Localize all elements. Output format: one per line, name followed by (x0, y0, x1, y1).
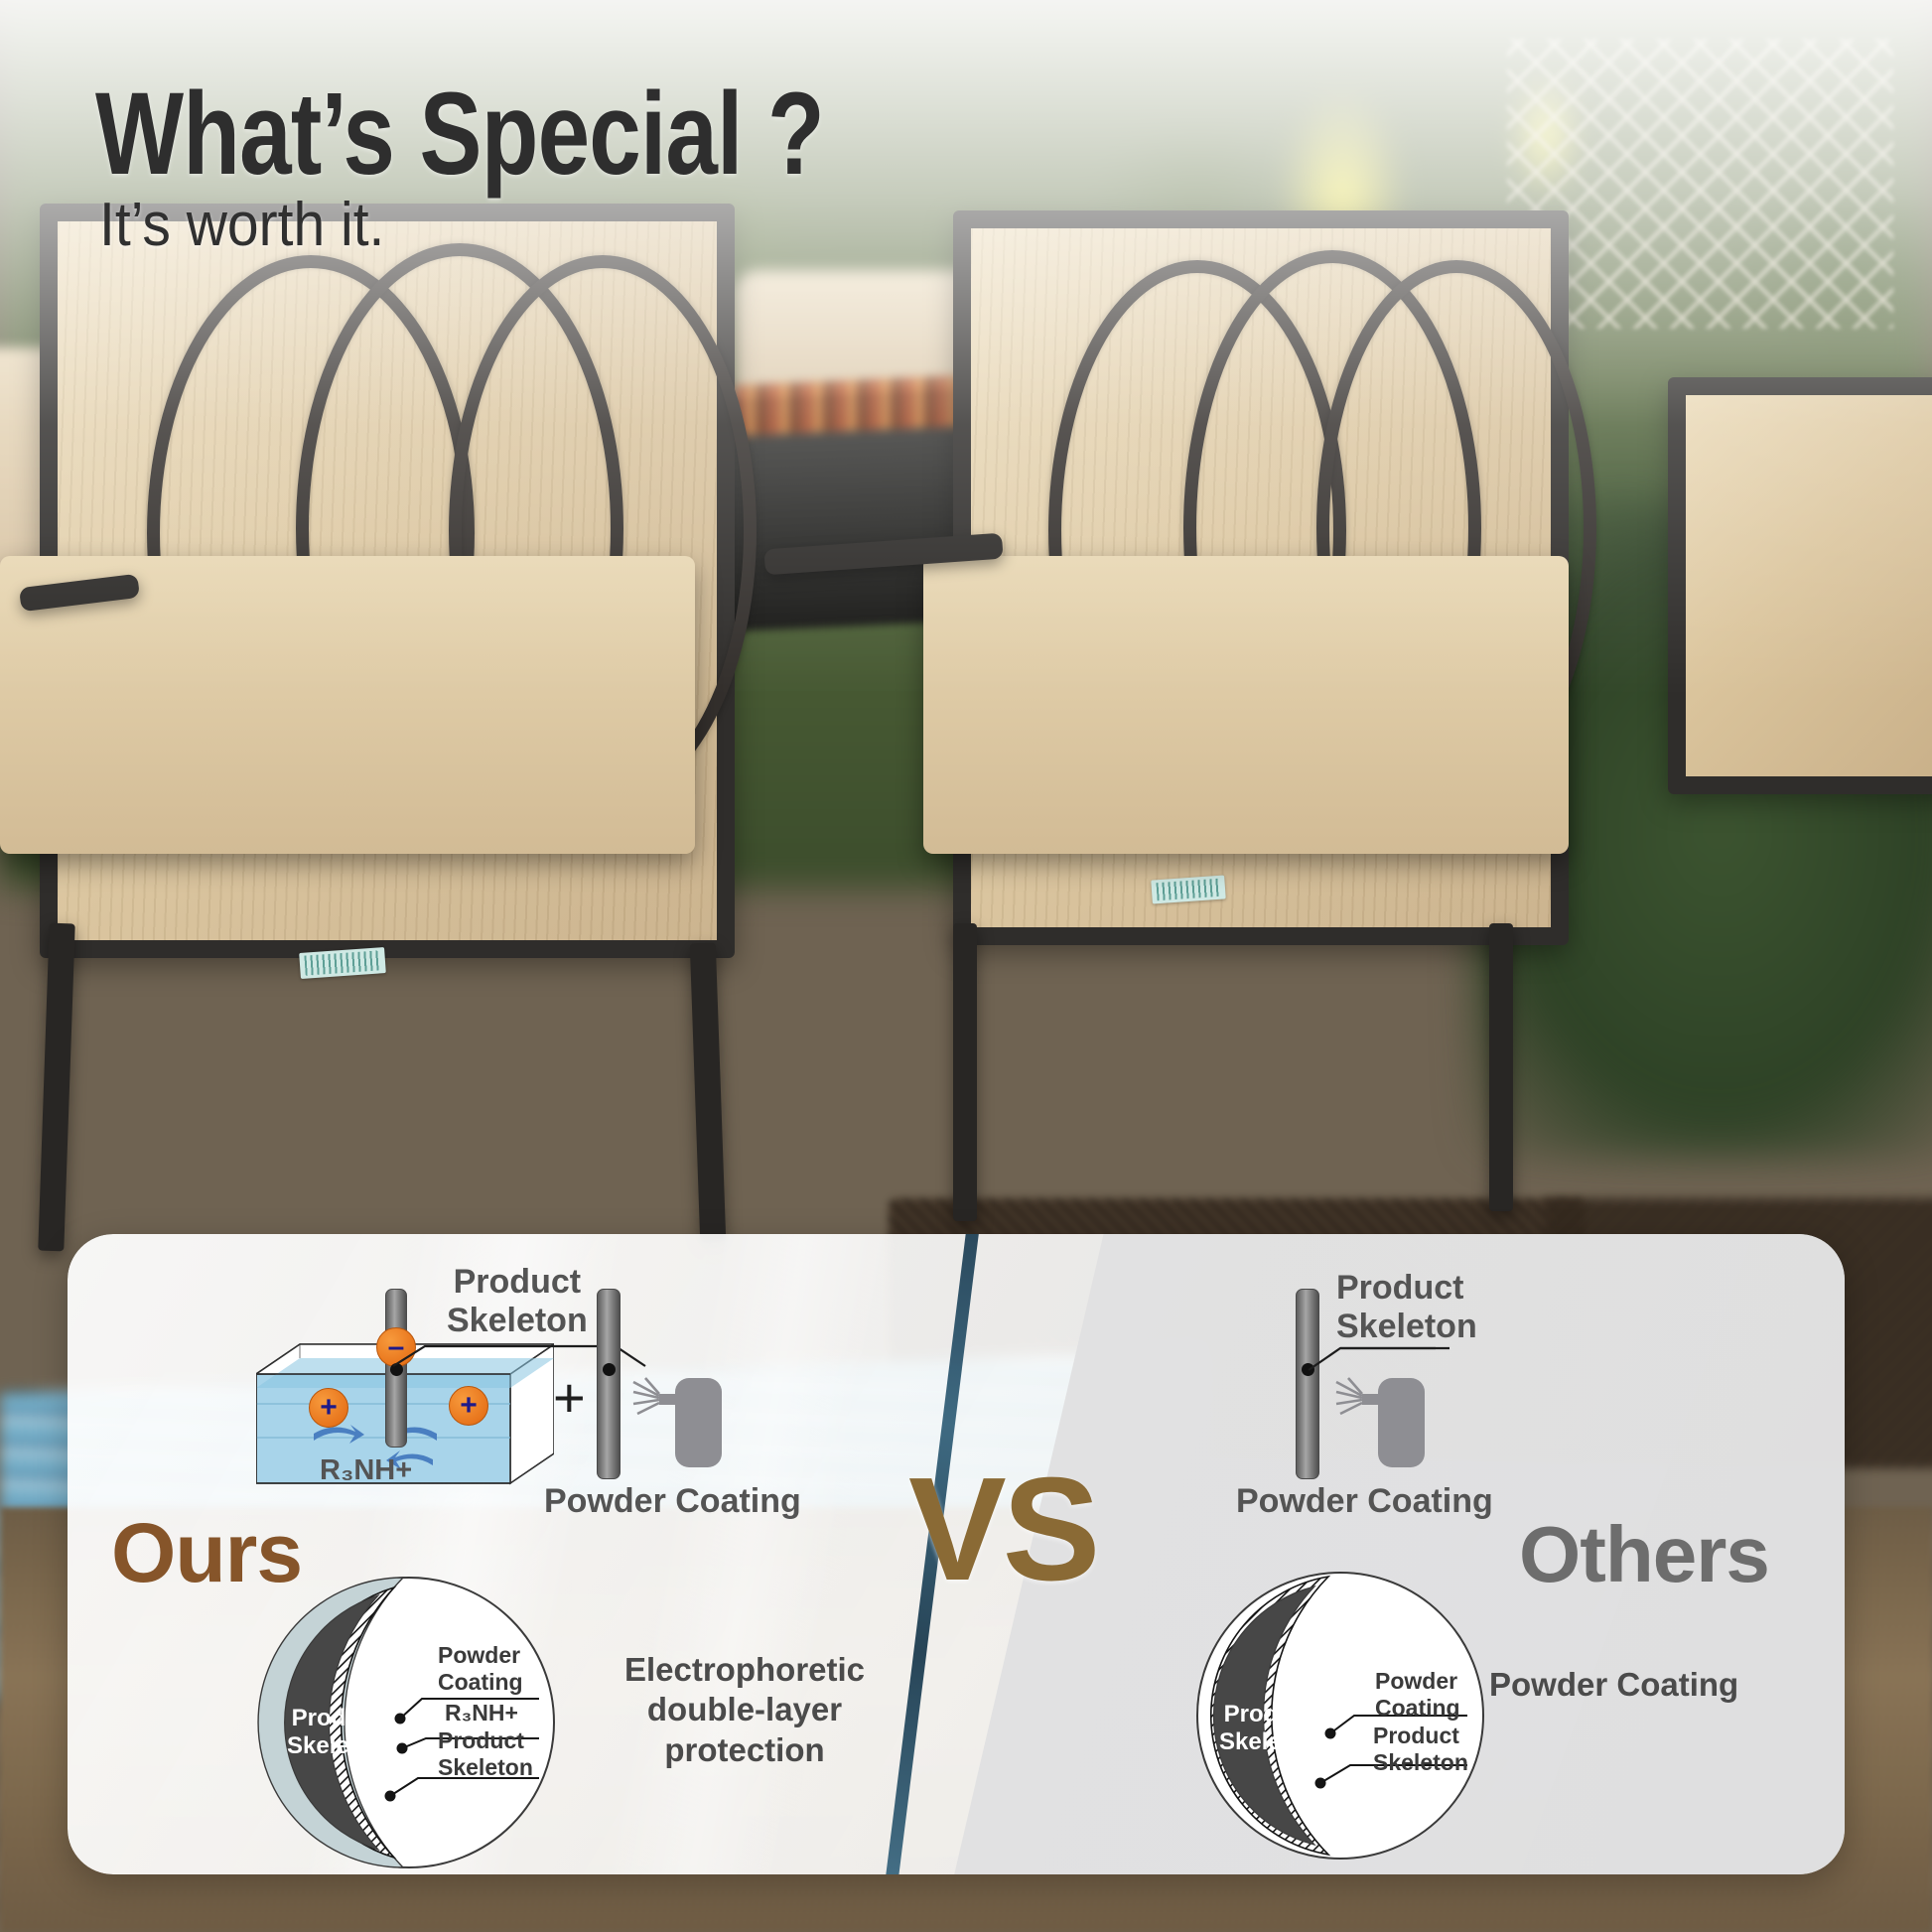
ours-title: Ours (111, 1505, 302, 1601)
dining-chair-far-right (1668, 377, 1932, 794)
plus-sign-ours: + (553, 1365, 586, 1430)
page-title: What’s Special ? (95, 77, 824, 193)
callout-product-skeleton-ours: Product Skeleton (438, 1727, 533, 1780)
chair-left-leg-2 (690, 943, 726, 1242)
cross-section-core-label-ours: Product Skeleton (287, 1705, 386, 1760)
product-marketing-image: What’s Special ? It’s worth it. (0, 0, 1932, 1932)
spray-gun-icon-others (1334, 1378, 1463, 1497)
ours-description-text: Electrophoretic double-layer protection (624, 1651, 865, 1768)
chair-right-leg-2 (1489, 923, 1513, 1211)
chair-right-leg (953, 923, 977, 1221)
callout-powder-coating-ours: Powder Coating (438, 1642, 523, 1695)
product-skeleton-label-others: Product Skeleton (1336, 1269, 1477, 1346)
others-description: Powder Coating (1489, 1665, 1738, 1705)
vs-badge: VS (908, 1446, 1096, 1614)
chair-far-right-frame (1668, 377, 1932, 794)
ours-description: Electrophoretic double-layer protection (566, 1650, 923, 1770)
powder-coating-label-ours: Powder Coating (544, 1482, 801, 1521)
cross-section-core-label-others: Product Skeleton (1219, 1701, 1318, 1756)
positive-charge-badge-left: + (309, 1388, 348, 1428)
chair-left-tag (299, 947, 386, 979)
callout-powder-coating-others: Powder Coating (1375, 1668, 1460, 1721)
callout-product-skeleton-others: Product Skeleton (1373, 1723, 1468, 1775)
electrolyte-label: R₃NH+ (320, 1454, 412, 1487)
callout-electrolyte-ours: R₃NH+ (445, 1700, 518, 1726)
chair-right-seat (923, 556, 1569, 854)
page-subtitle: It’s worth it. (99, 195, 384, 256)
chair-right-tag (1151, 875, 1225, 903)
product-skeleton-rod-ours (597, 1289, 621, 1479)
spray-gun-icon-ours (631, 1378, 760, 1497)
others-title: Others (1519, 1509, 1769, 1600)
chair-left-leg (38, 923, 75, 1252)
product-skeleton-label-ours: Product Skeleton (447, 1263, 588, 1340)
powder-coating-label-others: Powder Coating (1236, 1482, 1493, 1521)
product-skeleton-rod-dot-ours (603, 1363, 616, 1376)
